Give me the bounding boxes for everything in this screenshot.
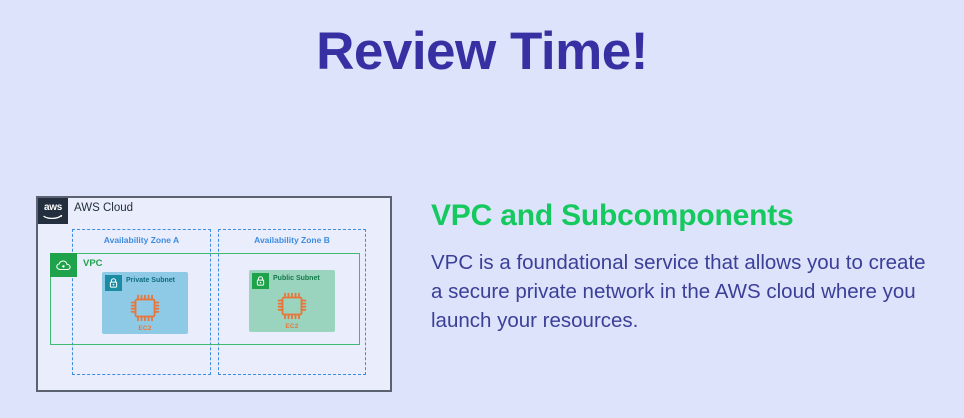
section-description: VPC is a foundational service that allow… xyxy=(431,248,936,335)
page-title: Review Time! xyxy=(0,22,964,81)
vpc-label: VPC xyxy=(83,258,103,269)
lock-icon xyxy=(105,275,122,291)
private-subnet: Private Subnet xyxy=(102,272,188,334)
content-column: VPC and Subcomponents VPC is a foundatio… xyxy=(431,198,951,335)
aws-architecture-diagram: aws AWS Cloud Availability Zone A Availa… xyxy=(36,196,392,392)
ec2-label-public: EC2 xyxy=(285,323,298,330)
public-subnet: Public Subnet xyxy=(249,270,335,332)
ec2-label-private: EC2 xyxy=(138,325,151,332)
ec2-instance-private: EC2 xyxy=(102,292,188,332)
aws-logo-icon: aws xyxy=(38,198,68,224)
ec2-chip-icon xyxy=(274,290,310,322)
aws-logo-text: aws xyxy=(44,203,62,212)
lock-icon xyxy=(252,273,269,289)
public-subnet-label: Public Subnet xyxy=(273,275,320,282)
aws-cloud-label: AWS Cloud xyxy=(74,202,133,214)
private-subnet-label: Private Subnet xyxy=(126,277,175,284)
availability-zone-b-label: Availability Zone B xyxy=(219,235,365,245)
availability-zone-a-label: Availability Zone A xyxy=(73,235,210,245)
ec2-chip-icon xyxy=(127,292,163,324)
vpc-cloud-icon xyxy=(50,253,77,277)
ec2-instance-public: EC2 xyxy=(249,290,335,330)
section-heading: VPC and Subcomponents xyxy=(431,198,951,234)
